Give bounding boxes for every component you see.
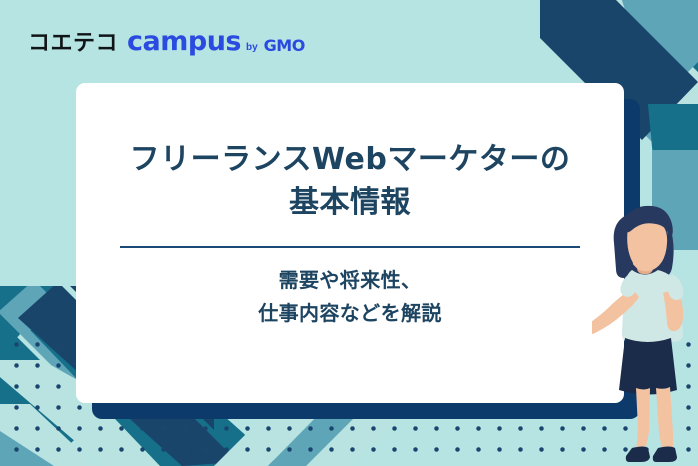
title-divider: [120, 246, 580, 248]
page-subtitle-line-1: 需要や将来性、: [76, 264, 624, 296]
right-shoe: [653, 447, 677, 463]
right-leg: [656, 387, 673, 455]
promotional-banner: コエテコ campus by GMO フリーランスWebマーケターの 基本情報 …: [0, 0, 698, 466]
brand-logo[interactable]: コエテコ campus by GMO: [28, 27, 305, 55]
page-subtitle: 需要や将来性、 仕事内容などを解説: [76, 264, 624, 329]
title-card: フリーランスWebマーケターの 基本情報 需要や将来性、 仕事内容などを解説: [76, 83, 624, 403]
logo-by-text: by: [246, 43, 258, 55]
page-title-line-2: 基本情報: [88, 182, 612, 225]
skirt: [619, 338, 677, 395]
left-shoe: [626, 447, 650, 463]
woman-illustration: [592, 196, 698, 466]
logo-gmo-text: GMO: [264, 38, 305, 55]
page-title-line-1: フリーランスWebマーケターの: [88, 139, 612, 182]
logo-koeteco-text: コエテコ: [28, 33, 118, 55]
page-title: フリーランスWebマーケターの 基本情報: [76, 139, 624, 224]
logo-campus-text: campus: [127, 28, 241, 55]
page-subtitle-line-2: 仕事内容などを解説: [76, 297, 624, 329]
left-leg: [636, 388, 650, 452]
